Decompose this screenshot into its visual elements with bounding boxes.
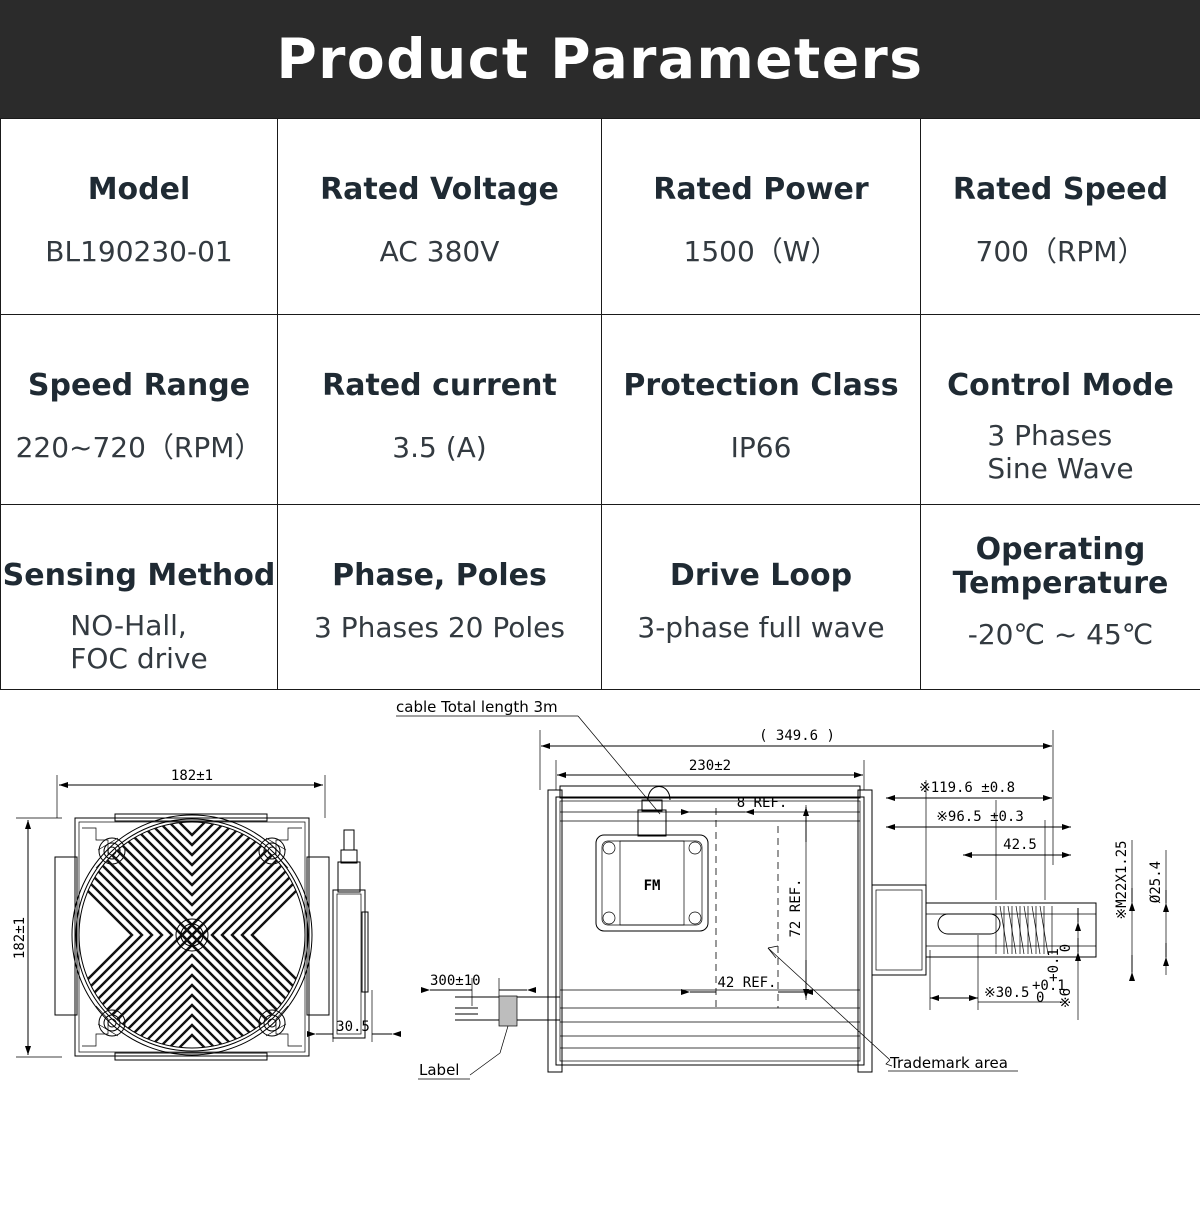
spec-label: Operating Temperature (953, 533, 1169, 600)
spec-label: Control Mode (947, 369, 1174, 403)
key-length-dim: ※30.5 (984, 985, 1029, 1001)
spec-value: 3 Phases 20 Poles (314, 611, 565, 645)
spec-cell-sensing-method: Sensing Method NO-Hall, FOC drive (1, 505, 278, 690)
spec-cell-phase-poles: Phase, Poles 3 Phases 20 Poles (278, 505, 602, 690)
trademark-area-note: Trademark area (889, 1054, 1008, 1072)
technical-drawing-area: 182±1 182±1 30.5 300±10 L (0, 690, 1200, 1209)
spec-label: Protection Class (623, 369, 898, 403)
cable-total-length-note: cable Total length 3m (396, 698, 558, 716)
page-header: Product Parameters (0, 0, 1200, 118)
spec-cell-speed-range: Speed Range 220~720（RPM） (1, 315, 278, 505)
spec-value: 3-phase full wave (637, 611, 884, 645)
product-parameters-table: Model BL190230-01 Rated Voltage AC 380V … (0, 118, 1200, 690)
spec-value: AC 380V (380, 235, 500, 269)
page-title: Product Parameters (276, 27, 923, 91)
key-height-dim: ※6 (1058, 988, 1074, 1008)
spec-label: Rated Power (653, 173, 868, 207)
junction-box: FM (596, 787, 708, 932)
box-width-dim: 42 REF. (717, 975, 776, 991)
shaft-diameter-dim: Ø25.4 (1148, 861, 1164, 903)
spec-cell-protection-class: Protection Class IP66 (602, 315, 921, 505)
table-row: Model BL190230-01 Rated Voltage AC 380V … (1, 119, 1200, 315)
box-height-dim: 72 REF. (788, 878, 804, 937)
spec-label: Phase, Poles (332, 559, 547, 593)
spec-value: 3.5 (A) (392, 431, 486, 465)
shaft-mid-dim: ※96.5 ±0.3 (936, 809, 1024, 825)
spec-label: Rated Speed (953, 173, 1168, 207)
spec-label: Speed Range (28, 369, 250, 403)
spec-cell-rated-power: Rated Power 1500（W） (602, 119, 921, 315)
spec-cell-drive-loop: Drive Loop 3-phase full wave (602, 505, 921, 690)
spec-value: 1500（W） (684, 235, 839, 269)
cable-assembly: 300±10 Label (418, 973, 560, 1079)
thread-spec-dim: ※M22X1.25 (1114, 840, 1130, 919)
table-row: Sensing Method NO-Hall, FOC drive Phase,… (1, 505, 1200, 690)
overall-length-dim: ( 349.6 ) (759, 728, 835, 744)
spec-cell-operating-temperature: Operating Temperature -20℃ ~ 45℃ (921, 505, 1200, 690)
cable-length-dim: 300±10 (430, 973, 481, 989)
spec-cell-rated-voltage: Rated Voltage AC 380V (278, 119, 602, 315)
label-note: Label (419, 1061, 459, 1079)
spec-value: BL190230-01 (45, 235, 232, 269)
spec-cell-rated-speed: Rated Speed 700（RPM） (921, 119, 1200, 315)
front-view-height-dim: 182±1 (12, 917, 28, 959)
spec-value: IP66 (731, 431, 792, 465)
spec-cell-model: Model BL190230-01 (1, 119, 278, 315)
brand-logo: FM (644, 878, 661, 894)
spec-label: Drive Loop (670, 559, 852, 593)
spec-label: Model (88, 173, 191, 207)
front-view-offset-dim: 30.5 (336, 1019, 370, 1035)
spec-cell-control-mode: Control Mode 3 Phases Sine Wave (921, 315, 1200, 505)
shaft-short-dim: 42.5 (1003, 837, 1037, 853)
spec-value: -20℃ ~ 45℃ (968, 618, 1154, 652)
shaft-total-dim: ※119.6 ±0.8 (919, 780, 1015, 796)
spec-value: NO-Hall, FOC drive (70, 609, 207, 676)
spec-label: Sensing Method (3, 559, 276, 593)
key-height-tol-lower: 0 (1058, 944, 1074, 952)
box-offset-dim: 8 REF. (737, 795, 788, 811)
spec-label: Rated Voltage (320, 173, 559, 207)
spec-cell-rated-current: Rated current 3.5 (A) (278, 315, 602, 505)
spec-value: 3 Phases Sine Wave (987, 419, 1133, 486)
front-view-drawing: 182±1 182±1 30.5 (12, 715, 392, 1155)
spec-value: 220~720（RPM） (16, 431, 263, 465)
side-view-drawing: 300±10 Label cable Total length 3m ( 349… (396, 698, 1166, 1079)
spec-value: 700（RPM） (976, 235, 1146, 269)
table-row: Speed Range 220~720（RPM） Rated current 3… (1, 315, 1200, 505)
spec-label: Rated current (322, 369, 557, 403)
key-length-tol-lower: 0 (1036, 990, 1044, 1006)
body-length-dim: 230±2 (689, 758, 731, 774)
front-view-width-dim: 182±1 (171, 768, 213, 784)
output-shaft (872, 885, 1096, 975)
